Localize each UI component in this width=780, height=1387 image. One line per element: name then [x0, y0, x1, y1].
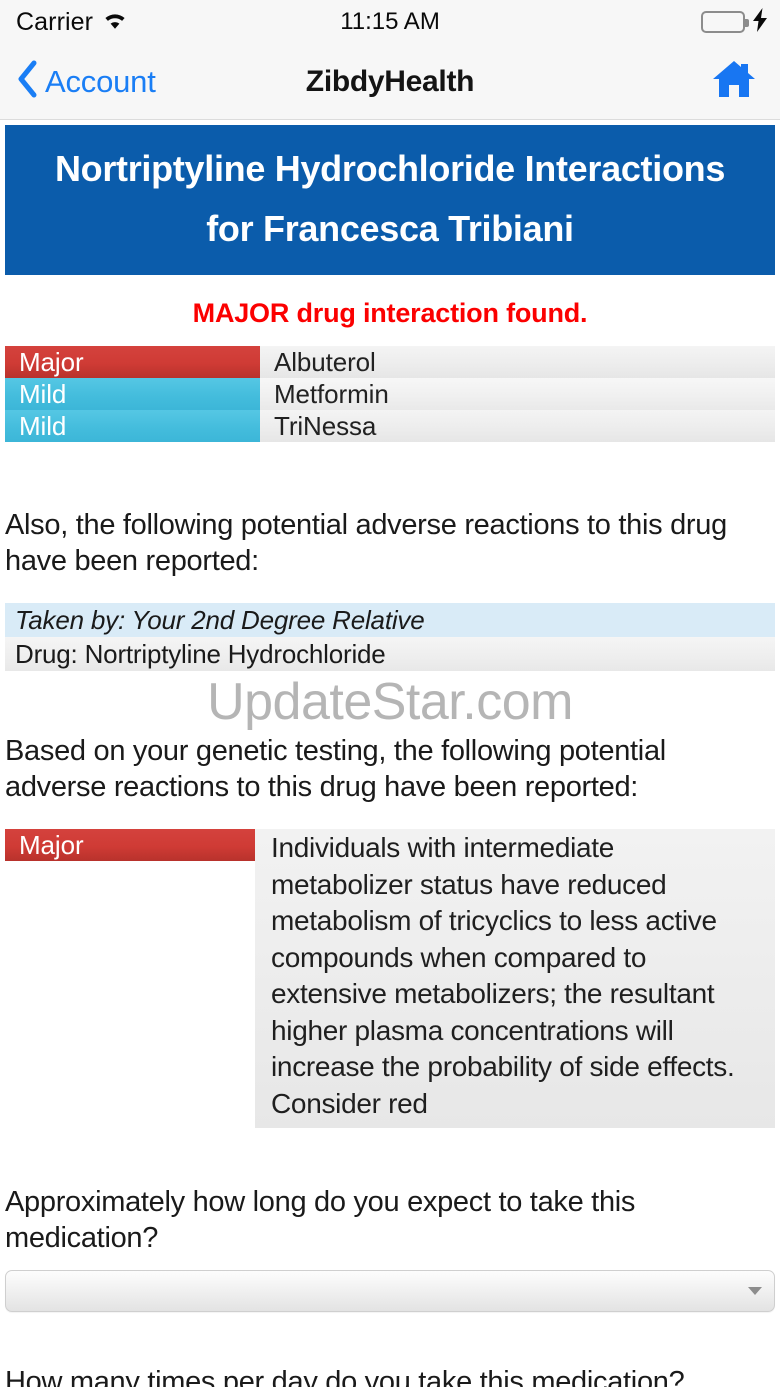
content-area: Nortriptyline Hydrochloride Interactions… — [0, 125, 780, 1387]
chevron-down-icon — [748, 1287, 762, 1295]
duration-select[interactable] — [5, 1270, 775, 1312]
drug-name: TriNessa — [260, 410, 775, 442]
question-duration-label: Approximately how long do you expect to … — [0, 1184, 780, 1256]
battery-full-icon — [701, 11, 745, 33]
severity-badge: Mild — [5, 378, 260, 410]
severity-badge: Major — [5, 346, 260, 378]
drug-name: Metformin — [260, 378, 775, 410]
home-button[interactable] — [710, 57, 758, 106]
back-button-label: Account — [45, 64, 156, 100]
back-button[interactable]: Account — [16, 60, 156, 103]
interaction-table: Major Albuterol Mild Metformin Mild TriN… — [5, 346, 775, 442]
lightning-bolt-icon — [752, 8, 768, 37]
table-row[interactable]: Mild TriNessa — [5, 410, 775, 442]
major-alert-text: MAJOR drug interaction found. — [0, 275, 780, 346]
genetic-reaction-text: Individuals with intermediate metabolize… — [255, 829, 775, 1128]
genetic-reaction-row: Major Individuals with intermediate meta… — [5, 829, 775, 1128]
drug-name: Albuterol — [260, 346, 775, 378]
severity-badge: Major — [5, 829, 255, 861]
genetic-testing-intro: Based on your genetic testing, the follo… — [0, 733, 780, 805]
adverse-reactions-list: Taken by: Your 2nd Degree Relative Drug:… — [5, 603, 775, 671]
table-row[interactable]: Major Albuterol — [5, 346, 775, 378]
list-item: Taken by: Your 2nd Degree Relative — [5, 603, 775, 637]
status-bar: Carrier 11:15 AM — [0, 0, 780, 44]
status-bar-time: 11:15 AM — [0, 8, 780, 36]
interaction-banner: Nortriptyline Hydrochloride Interactions… — [5, 125, 775, 275]
status-bar-right — [701, 8, 768, 37]
app-screen: Carrier 11:15 AM — [0, 0, 780, 1387]
adverse-reactions-intro: Also, the following potential adverse re… — [0, 507, 780, 579]
table-row[interactable]: Mild Metformin — [5, 378, 775, 410]
home-icon — [710, 57, 758, 106]
severity-badge: Mild — [5, 410, 260, 442]
chevron-left-icon — [16, 60, 38, 103]
question-frequency-label: How many times per day do you take this … — [0, 1364, 780, 1387]
list-item: Drug: Nortriptyline Hydrochloride — [5, 637, 775, 671]
navigation-bar: Account ZibdyHealth — [0, 44, 780, 120]
genetic-severity-column: Major — [5, 829, 255, 1128]
